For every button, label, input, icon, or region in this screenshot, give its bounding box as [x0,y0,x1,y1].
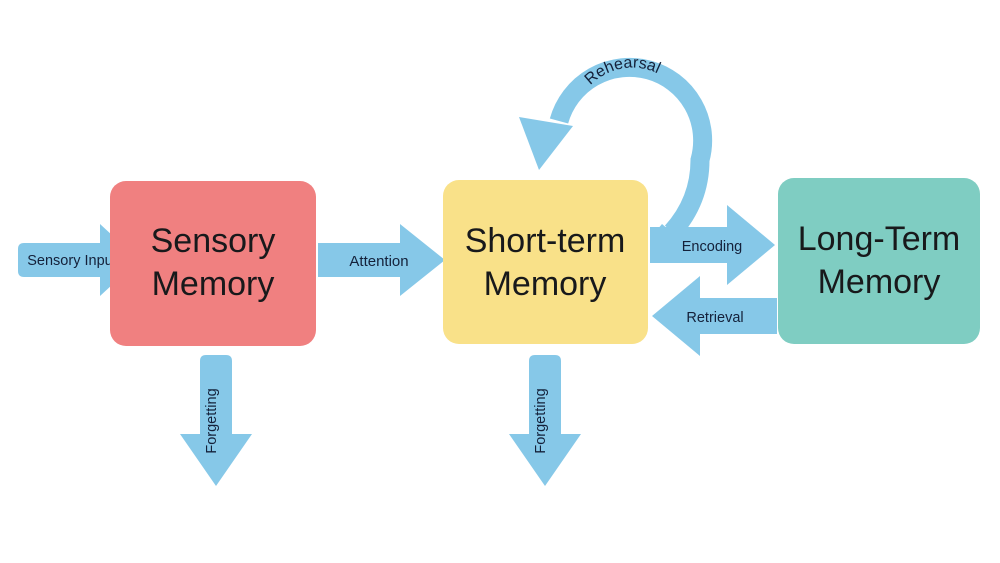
attention-label: Attention [349,253,408,270]
short-term-memory-rect[interactable] [443,180,648,344]
retrieval-label: Retrieval [686,310,743,326]
short-term-memory-label-line2: Memory [484,265,607,303]
arrow-forgetting-sensory: Forgetting [180,355,252,486]
long-term-memory-rect[interactable] [778,178,980,344]
forgetting-sensory-label: Forgetting [204,388,220,453]
encoding-label: Encoding [682,239,742,255]
sensory-memory-box[interactable]: Sensory Memory [110,181,316,346]
forgetting-short-term-label: Forgetting [533,388,549,453]
short-term-memory-label-line1: Short-term [465,222,626,260]
sensory-memory-rect[interactable] [110,181,316,346]
memory-model-diagram: Sensory Input Sensory Memory Attention R… [0,0,1000,563]
arrow-attention: Attention [318,224,445,296]
sensory-memory-label-line1: Sensory [151,222,276,260]
long-term-memory-label-line2: Memory [818,263,941,301]
short-term-memory-box[interactable]: Short-term Memory [443,180,648,344]
arrow-encoding: Encoding [650,205,775,285]
arrow-retrieval: Retrieval [652,276,777,356]
diagram-canvas: Sensory Input Sensory Memory Attention R… [0,0,1000,563]
sensory-memory-label-line2: Memory [152,265,275,303]
arrow-forgetting-short-term: Forgetting [509,355,581,486]
long-term-memory-label-line1: Long-Term [798,220,961,258]
rehearsal-arrowhead [519,117,573,170]
long-term-memory-box[interactable]: Long-Term Memory [778,178,980,344]
sensory-input-label: Sensory Input [27,253,116,269]
